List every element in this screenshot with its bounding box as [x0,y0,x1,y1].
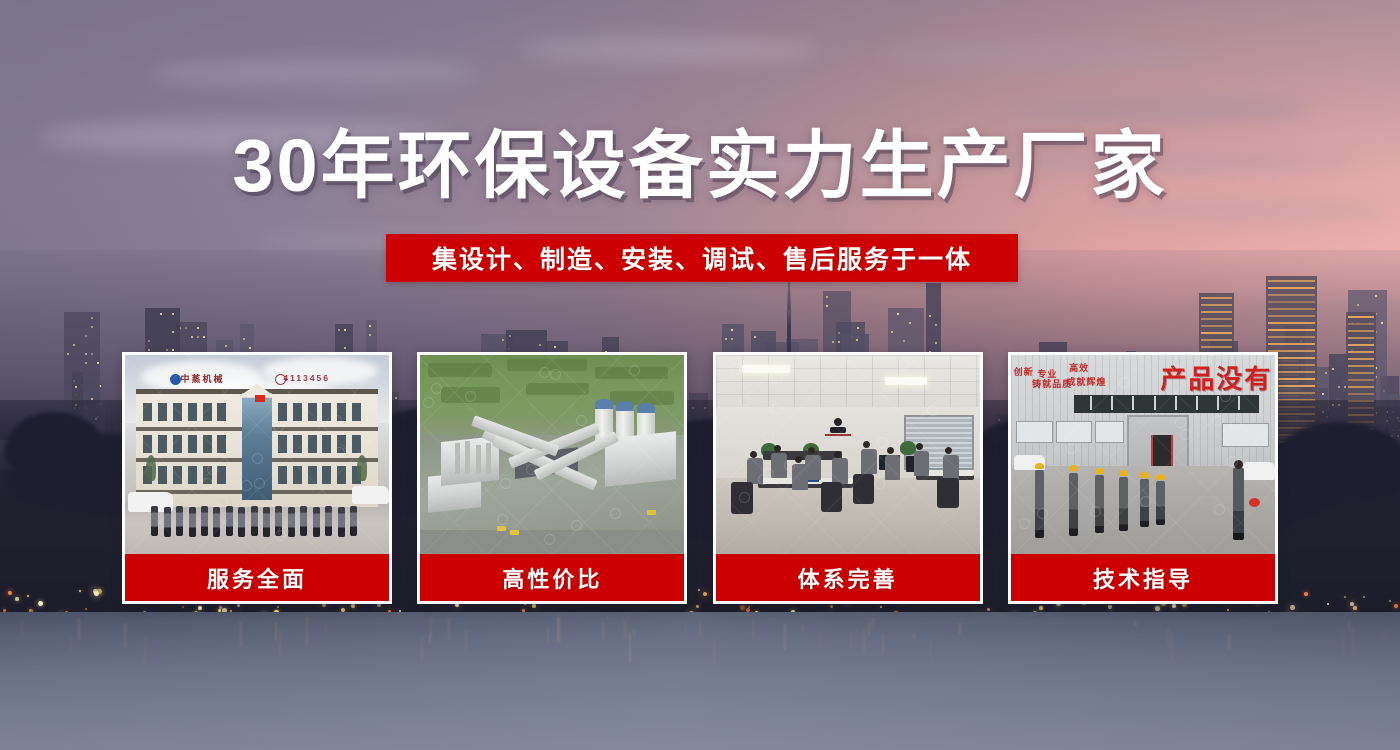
card-caption-text: 体系完善 [798,562,898,594]
card-photo-office-interior [716,355,980,554]
card-photo-plant-aerial [420,355,684,554]
feature-card[interactable]: 体系完善 [713,352,983,604]
card-caption-bar: 体系完善 [716,554,980,601]
feature-card[interactable]: 产品没有 创新 专业 高效 铸就品质 成就辉煌 [1008,352,1278,604]
card-caption-bar: 服务全面 [125,554,389,601]
card-caption-bar: 高性价比 [420,554,684,601]
card-caption-text: 服务全面 [207,562,307,594]
building-sign-text: 中蒸机械 [180,372,224,385]
hero-subtitle-banner: 集设计、制造、安装、调试、售后服务于一体 [386,234,1018,282]
photo-scene: 中蒸机械 4113456 [125,355,389,554]
feature-card[interactable]: 中蒸机械 4113456 服务全面 [122,352,392,604]
feature-card[interactable]: 高性价比 [417,352,687,604]
photo-scene: 产品没有 创新 专业 高效 铸就品质 成就辉煌 [1011,355,1275,554]
photo-scene [420,355,684,554]
hero-banner: 30年环保设备实力生产厂家 集设计、制造、安装、调试、售后服务于一体 [0,0,1400,750]
card-caption-bar: 技术指导 [1011,554,1275,601]
factory-slogan-large: 产品没有 [1160,359,1272,396]
wall-logo-icon [821,415,855,439]
hero-subtitle-text: 集设计、制造、安装、调试、售后服务于一体 [432,240,972,276]
photo-scene [716,355,980,554]
card-photo-company-building: 中蒸机械 4113456 [125,355,389,554]
feature-card-row: 中蒸机械 4113456 服务全面 [122,352,1278,604]
building-logo-icon [170,374,181,385]
card-caption-text: 技术指导 [1093,562,1193,594]
hero-headline: 30年环保设备实力生产厂家 [0,129,1400,203]
card-photo-workers-training: 产品没有 创新 专业 高效 铸就品质 成就辉煌 [1011,355,1275,554]
card-caption-text: 高性价比 [502,562,602,594]
building-phone-number: 4113456 [283,373,330,383]
